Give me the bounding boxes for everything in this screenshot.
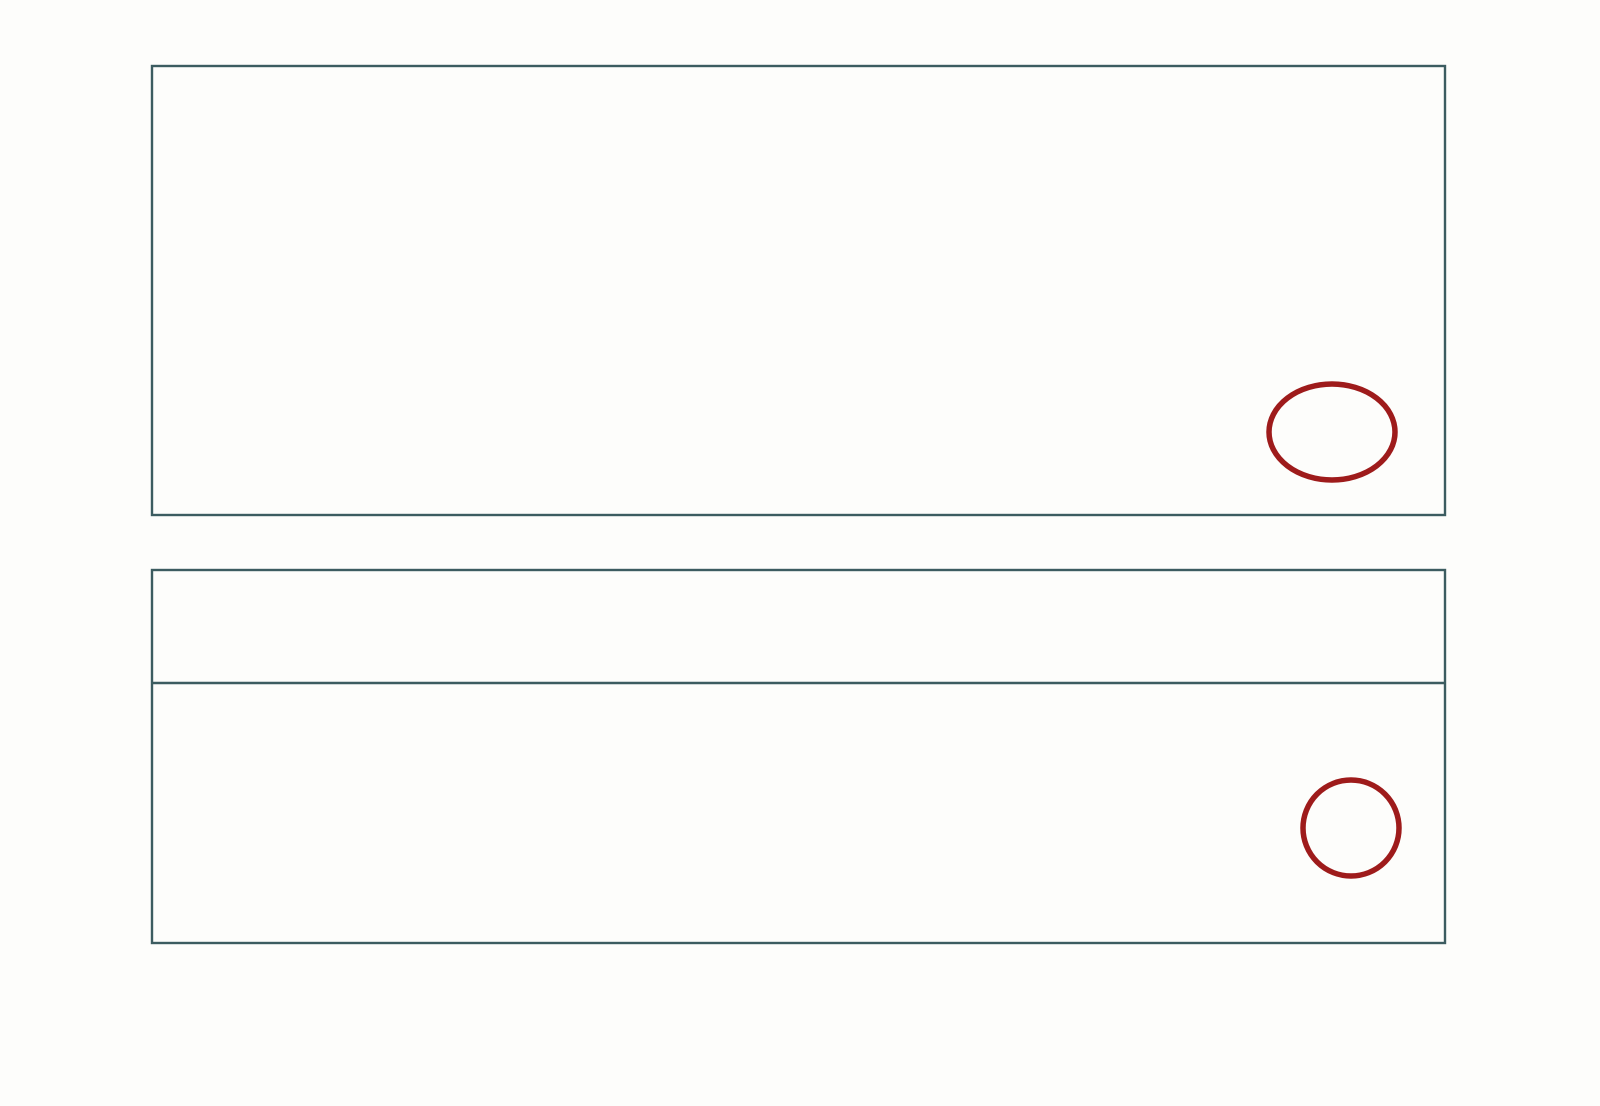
chart-figure [0,0,1600,1106]
figure-background [0,0,1600,1106]
